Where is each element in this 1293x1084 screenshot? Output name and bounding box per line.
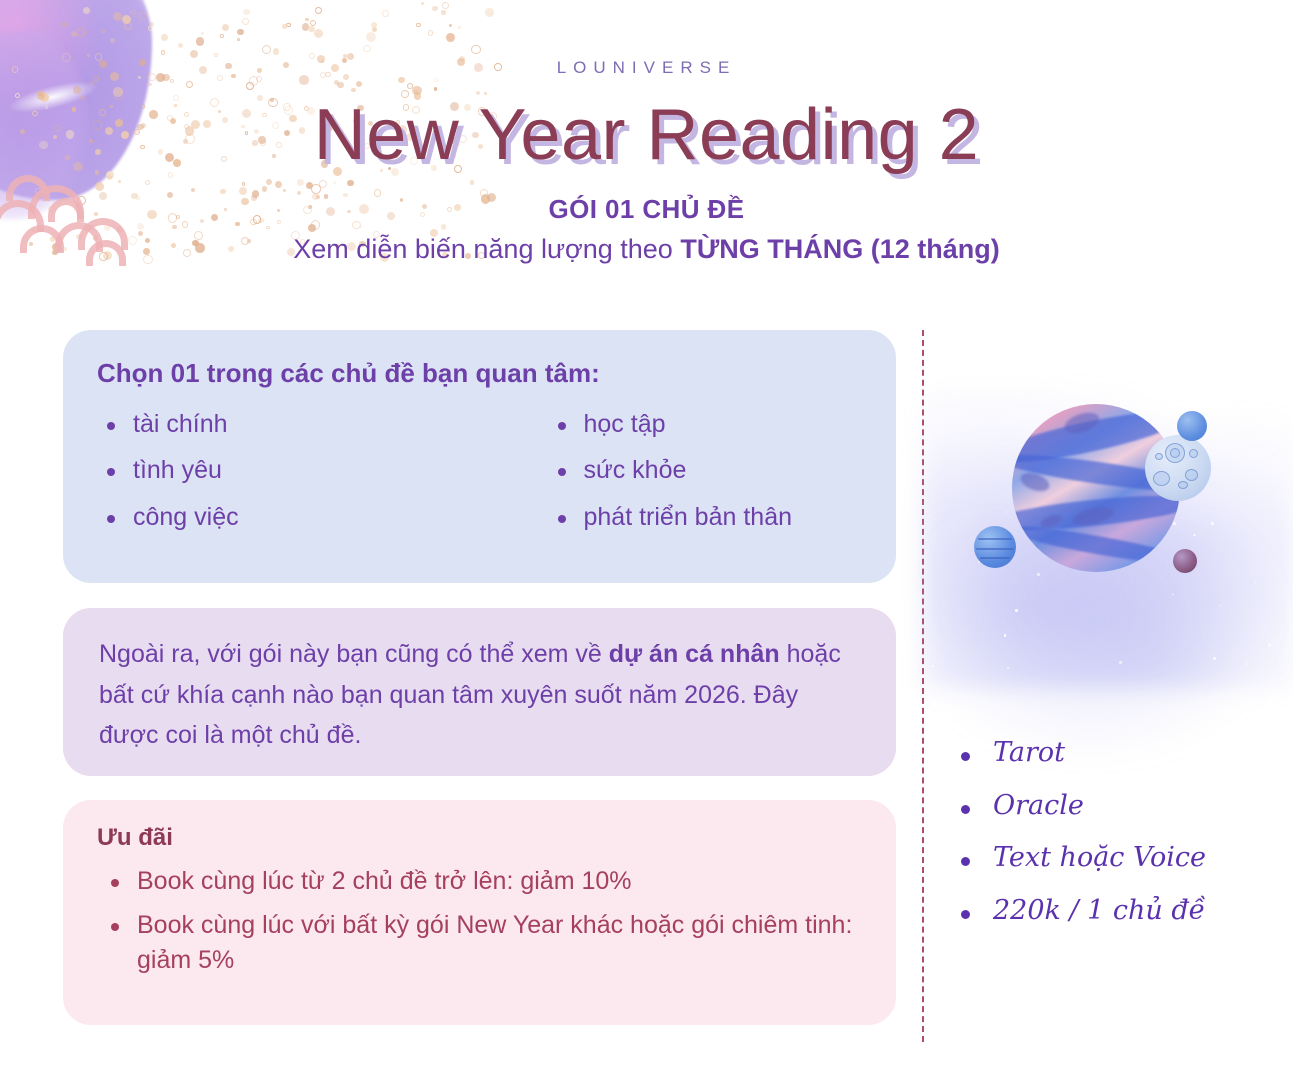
list-item[interactable]: sức khỏe	[548, 457, 863, 483]
glitter-dot-icon	[485, 8, 494, 17]
glitter-dot-icon	[149, 22, 154, 27]
glitter-dot-icon	[372, 27, 377, 32]
glitter-dot-icon	[138, 12, 146, 20]
glitter-dot-icon	[315, 7, 322, 14]
glitter-dot-icon	[243, 9, 250, 16]
list-item[interactable]: Text hoặc Voice	[955, 843, 1285, 873]
star-icon	[1007, 511, 1009, 513]
glitter-dot-icon	[310, 20, 316, 26]
glitter-dot-icon	[87, 54, 90, 57]
glitter-dot-icon	[366, 32, 376, 42]
package-description: Xem diễn biến năng lượng theo TỪNG THÁNG…	[0, 234, 1293, 265]
page-title-wrapper: New Year Reading 2	[0, 92, 1293, 178]
glitter-dot-icon	[131, 10, 136, 15]
star-icon	[1246, 663, 1248, 665]
star-icon	[1173, 522, 1176, 525]
additional-note-text: Ngoài ra, với gói này bạn cũng có thể xe…	[99, 634, 860, 756]
glitter-dot-icon	[363, 45, 371, 53]
promotion-card: Ưu đãi Book cùng lúc từ 2 chủ đề trở lên…	[63, 800, 896, 1025]
glitter-dot-icon	[314, 29, 323, 38]
glitter-dot-icon	[161, 34, 168, 41]
topics-card: Chọn 01 trong các chủ đề bạn quan tâm: t…	[63, 330, 896, 583]
glitter-dot-icon	[428, 30, 433, 35]
glitter-dot-icon	[110, 38, 116, 44]
glitter-dot-icon	[124, 22, 132, 30]
glitter-dot-icon	[237, 29, 244, 36]
star-icon	[934, 519, 935, 520]
glitter-dot-icon	[432, 6, 438, 12]
star-icon	[1241, 423, 1243, 425]
star-icon	[1015, 609, 1018, 612]
glitter-dot-icon	[101, 29, 105, 33]
list-item[interactable]: phát triển bản thân	[548, 504, 863, 530]
list-item[interactable]: Book cùng lúc với bất kỳ gói New Year kh…	[97, 908, 862, 979]
glitter-dot-icon	[161, 50, 166, 55]
list-item[interactable]: Tarot	[955, 738, 1285, 768]
note-bold-highlight: dự án cá nhân	[609, 640, 780, 668]
glitter-dot-icon	[421, 2, 424, 5]
poster-header: LOUNIVERSE New Year Reading 2 GÓI 01 CHỦ…	[0, 58, 1293, 265]
star-icon	[1211, 522, 1214, 525]
list-item[interactable]: Oracle	[955, 791, 1285, 821]
topics-list-right: học tập sức khỏe phát triển bản thân	[548, 411, 863, 530]
glitter-dot-icon	[214, 53, 218, 57]
glitter-dot-icon	[220, 34, 224, 38]
brand-name: LOUNIVERSE	[0, 58, 1293, 78]
glitter-dot-icon	[77, 28, 85, 36]
glitter-dot-icon	[83, 7, 90, 14]
glitter-dot-icon	[201, 32, 204, 35]
glitter-dot-icon	[286, 23, 291, 28]
star-icon	[1268, 643, 1271, 646]
promotion-heading: Ưu đãi	[97, 824, 862, 852]
glitter-dot-icon	[416, 23, 420, 27]
list-item[interactable]: Book cùng lúc từ 2 chủ đề trở lên: giảm …	[97, 864, 862, 900]
glitter-dot-icon	[302, 23, 309, 30]
glitter-dot-icon	[237, 38, 241, 42]
glitter-dot-icon	[178, 43, 183, 48]
glitter-dot-icon	[282, 24, 287, 29]
glitter-dot-icon	[442, 2, 450, 10]
package-subtitle: GÓI 01 CHỦ ĐỀ	[0, 194, 1293, 225]
glitter-dot-icon	[222, 24, 229, 31]
star-icon	[1263, 622, 1264, 623]
promotion-list: Book cùng lúc từ 2 chủ đề trở lên: giảm …	[97, 864, 862, 979]
page-title: New Year Reading 2	[0, 92, 1293, 178]
glitter-dot-icon	[122, 15, 131, 24]
glitter-dot-icon	[305, 18, 309, 22]
glitter-dot-icon	[471, 45, 481, 55]
package-description-plain: Xem diễn biến năng lượng theo	[293, 234, 680, 264]
glitter-dot-icon	[190, 50, 198, 58]
list-item[interactable]: tình yêu	[97, 457, 480, 483]
glitter-dot-icon	[382, 10, 389, 17]
planet-small-blue-icon	[1177, 411, 1207, 441]
glitter-dot-icon	[308, 26, 315, 33]
planet-left-blue-icon	[974, 526, 1016, 568]
topics-column-left: tài chính tình yêu công việc	[97, 411, 480, 550]
note-part-1: Ngoài ra, với gói này bạn cũng có thể xe…	[99, 640, 609, 668]
topics-heading: Chọn 01 trong các chủ đề bạn quan tâm:	[97, 358, 862, 389]
list-item[interactable]: học tập	[548, 411, 863, 437]
additional-note-card: Ngoài ra, với gói này bạn cũng có thể xe…	[63, 608, 896, 776]
glitter-dot-icon	[446, 33, 455, 42]
list-item[interactable]: tài chính	[97, 411, 480, 437]
topics-columns: tài chính tình yêu công việc học tập sức…	[97, 411, 862, 550]
star-icon	[1193, 534, 1195, 536]
glitter-dot-icon	[71, 31, 77, 37]
glitter-dot-icon	[371, 22, 377, 28]
planets-illustration	[930, 378, 1293, 698]
glitter-dot-icon	[113, 12, 122, 21]
glitter-dot-icon	[61, 22, 67, 28]
planet-maroon-icon	[1173, 549, 1197, 573]
glitter-dot-icon	[273, 48, 280, 55]
glitter-dot-icon	[449, 24, 452, 27]
glitter-dot-icon	[148, 26, 153, 31]
topics-list-left: tài chính tình yêu công việc	[97, 411, 480, 530]
glitter-dot-icon	[242, 18, 249, 25]
topics-column-right: học tập sức khỏe phát triển bản thân	[480, 411, 863, 550]
offer-details-list: Tarot Oracle Text hoặc Voice 220k / 1 ch…	[955, 738, 1285, 949]
glitter-dot-icon	[441, 10, 446, 15]
list-item[interactable]: 220k / 1 chủ đề	[955, 896, 1285, 926]
star-icon	[1220, 605, 1221, 606]
star-icon	[1037, 573, 1040, 576]
glitter-dot-icon	[458, 26, 461, 29]
moon-icon	[1145, 435, 1211, 501]
list-item[interactable]: công việc	[97, 504, 480, 530]
poster-canvas: LOUNIVERSE New Year Reading 2 GÓI 01 CHỦ…	[0, 0, 1293, 1084]
package-description-bold: TỪNG THÁNG (12 tháng)	[680, 234, 999, 264]
glitter-dot-icon	[262, 45, 271, 54]
glitter-dot-icon	[196, 37, 205, 46]
